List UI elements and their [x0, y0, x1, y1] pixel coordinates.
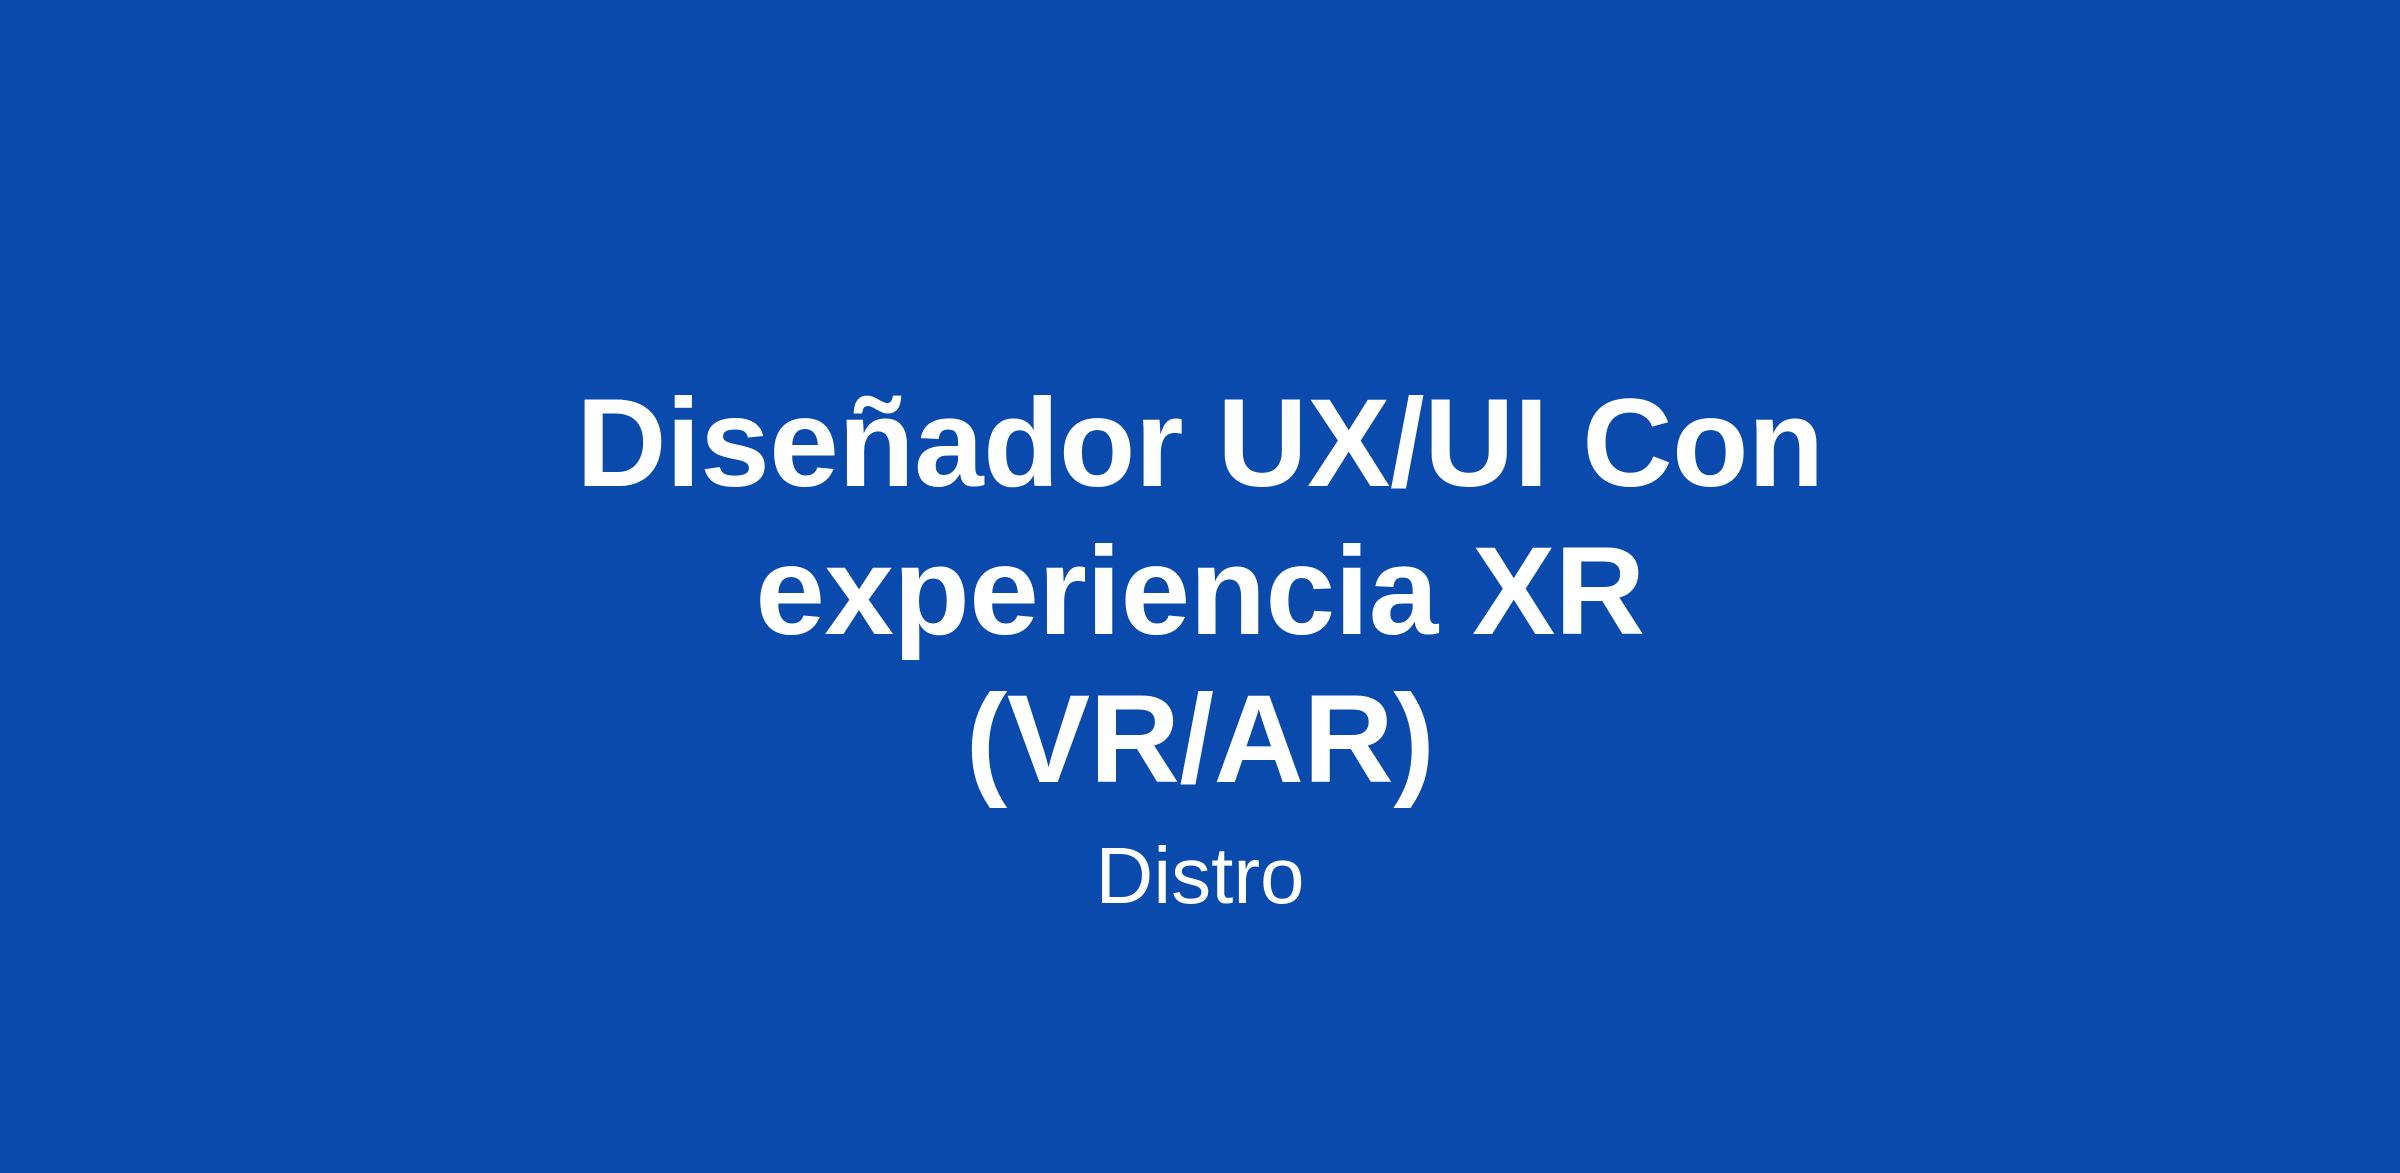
job-title: Diseñador UX/UI Con experiencia XR (VR/A… — [520, 370, 1880, 814]
company-name: Distro — [520, 814, 1880, 924]
job-share-card: Diseñador UX/UI Con experiencia XR (VR/A… — [0, 0, 2400, 1173]
card-text-block: Diseñador UX/UI Con experiencia XR (VR/A… — [520, 370, 1880, 924]
